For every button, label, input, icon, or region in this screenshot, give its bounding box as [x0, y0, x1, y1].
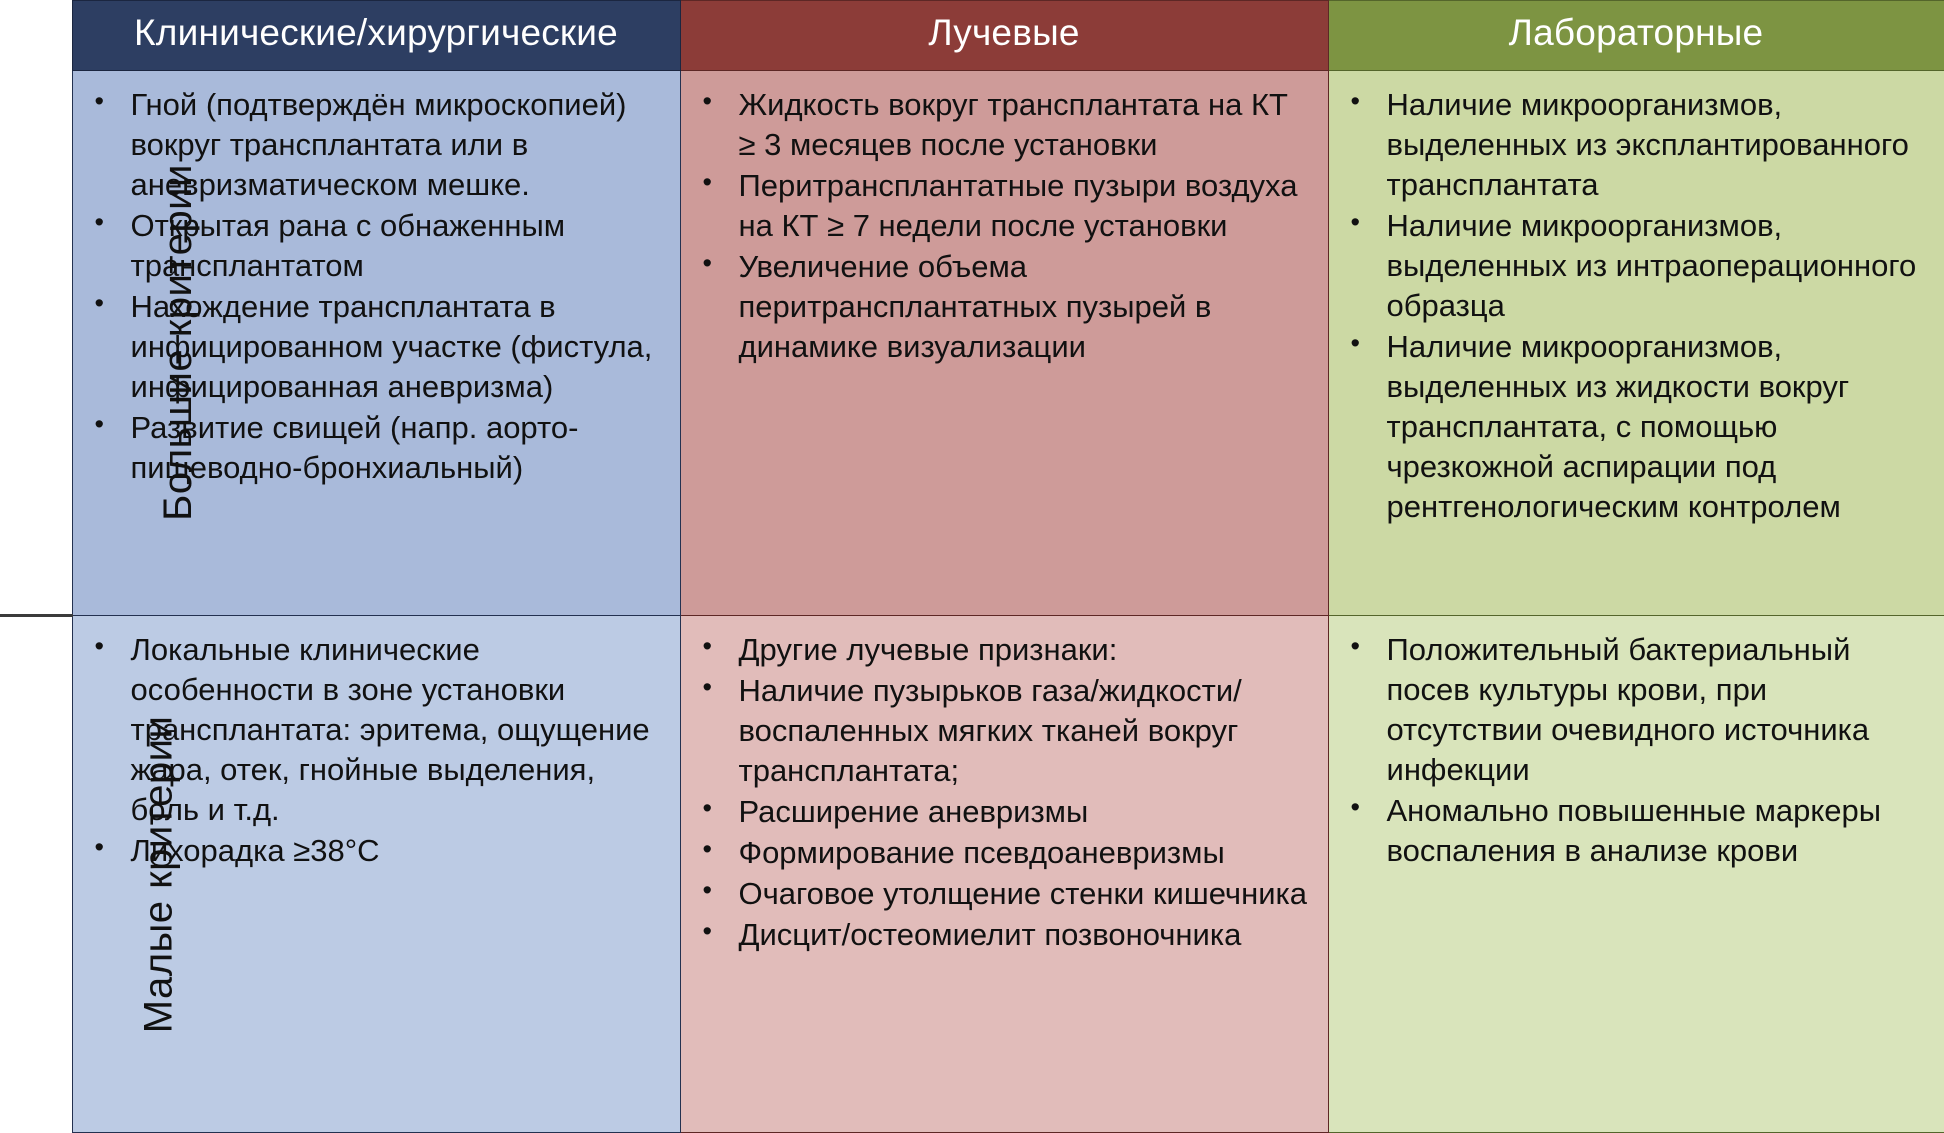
list-item: Очаговое утолщение стенки кишечника	[687, 874, 1314, 914]
list-item: Наличие микроорганизмов, выделенных из ж…	[1335, 327, 1930, 527]
list-item: Расширение аневризмы	[687, 792, 1314, 832]
list-item: Увеличение объема перитрансплантатных пу…	[687, 247, 1314, 367]
list-item: Развитие свищей (напр. аорто-пищеводно-б…	[79, 408, 666, 488]
corner-cell	[0, 1, 72, 71]
table-header-row: Клинические/хирургические Лучевые Лабора…	[0, 1, 1944, 71]
column-header-clinical: Клинические/хирургические	[72, 1, 680, 71]
cell-major-clinical: Гной (подтверждён микроскопией) вокруг т…	[72, 71, 680, 616]
row-label-minor: Малые критерии	[0, 616, 72, 1133]
list-item: Дисцит/остеомиелит позвоночника	[687, 915, 1314, 955]
list-item: Другие лучевые признаки:	[687, 630, 1314, 670]
list-item: Локальные клинические особенности в зоне…	[79, 630, 666, 830]
list-item: Положительный бактериальный посев культу…	[1335, 630, 1930, 790]
list-item: Перитрансплантатные пузыри воздуха на КТ…	[687, 166, 1314, 246]
list-item: Гной (подтверждён микроскопией) вокруг т…	[79, 85, 666, 205]
bullet-list-major-clinical: Гной (подтверждён микроскопией) вокруг т…	[79, 85, 666, 488]
list-item: Формирование псевдоаневризмы	[687, 833, 1314, 873]
cell-minor-radiologic: Другие лучевые признаки: Наличие пузырьк…	[680, 616, 1328, 1133]
cell-minor-laboratory: Положительный бактериальный посев культу…	[1328, 616, 1944, 1133]
table-row-minor: Малые критерии Локальные клинические осо…	[0, 616, 1944, 1133]
table-row-major: Большие критерии Гной (подтверждён микро…	[0, 71, 1944, 616]
bullet-list-minor-radiologic: Другие лучевые признаки: Наличие пузырьк…	[687, 630, 1314, 955]
bullet-list-minor-laboratory: Положительный бактериальный посев культу…	[1335, 630, 1930, 871]
list-item: Наличие пузырьков газа/жидкости/воспален…	[687, 671, 1314, 791]
list-item: Нахождение трансплантата в инфицированно…	[79, 287, 666, 407]
cell-major-radiologic: Жидкость вокруг трансплантата на КТ ≥ 3 …	[680, 71, 1328, 616]
list-item: Жидкость вокруг трансплантата на КТ ≥ 3 …	[687, 85, 1314, 165]
bullet-list-major-radiologic: Жидкость вокруг трансплантата на КТ ≥ 3 …	[687, 85, 1314, 367]
row-label-major: Большие критерии	[0, 71, 72, 616]
list-item: Наличие микроорганизмов, выделенных из э…	[1335, 85, 1930, 205]
bullet-list-minor-clinical: Локальные клинические особенности в зоне…	[79, 630, 666, 871]
list-item: Лихорадка ≥38°C	[79, 831, 666, 871]
cell-major-laboratory: Наличие микроорганизмов, выделенных из э…	[1328, 71, 1944, 616]
list-item: Наличие микроорганизмов, выделенных из и…	[1335, 206, 1930, 326]
list-item: Открытая рана с обнаженным трансплантато…	[79, 206, 666, 286]
column-header-laboratory: Лабораторные	[1328, 1, 1944, 71]
column-header-radiologic: Лучевые	[680, 1, 1328, 71]
criteria-table: Клинические/хирургические Лучевые Лабора…	[0, 0, 1944, 1133]
criteria-table-container: Клинические/хирургические Лучевые Лабора…	[0, 0, 1944, 1132]
bullet-list-major-laboratory: Наличие микроорганизмов, выделенных из э…	[1335, 85, 1930, 527]
list-item: Аномально повышенные маркеры воспаления …	[1335, 791, 1930, 871]
